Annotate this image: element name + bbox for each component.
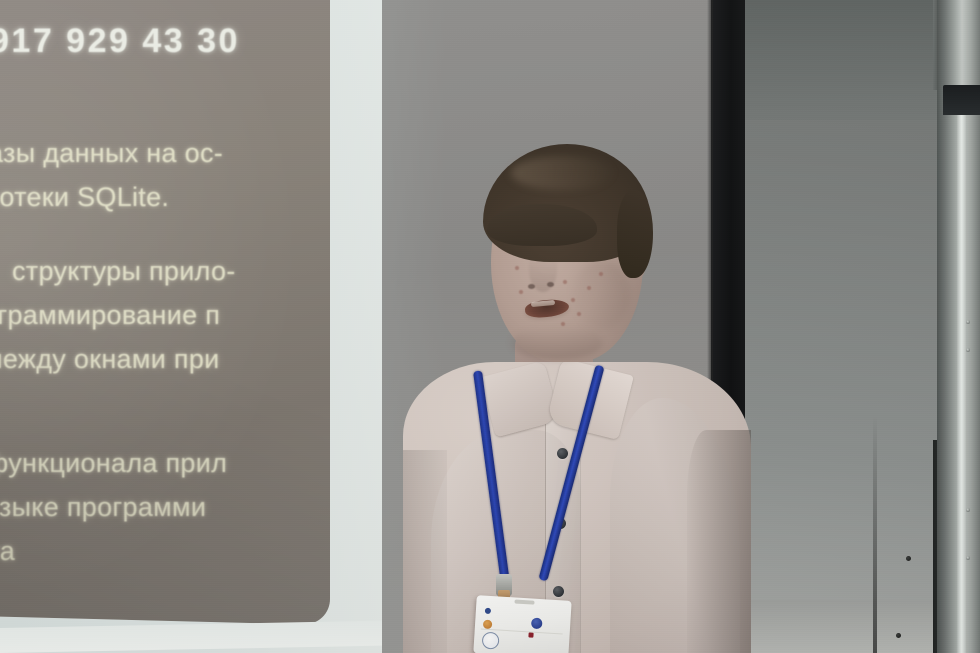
rail-screw-icon: [966, 320, 970, 324]
slide-body-line-1: азы данных на ос-: [0, 138, 223, 169]
lanyard-assembly: [395, 130, 755, 653]
slide-body-line-7: языке программи: [0, 492, 206, 523]
projector-screen: @koomelka 917 929 43 30 азы данных на ос…: [0, 0, 382, 653]
slide-content: @koomelka 917 929 43 30 азы данных на ос…: [0, 0, 330, 620]
slide-body-line-5: между окнами при: [0, 344, 220, 375]
badge-slot: [514, 599, 534, 604]
projected-slide: @koomelka 917 929 43 30 азы данных на ос…: [0, 0, 330, 625]
name-badge: [473, 595, 571, 653]
badge-logo-icon: [528, 632, 533, 637]
presentation-photo: @koomelka 917 929 43 30 азы данных на ос…: [0, 0, 980, 653]
badge-logo-icon: [485, 608, 491, 614]
slide-phone-text: 917 929 43 30: [0, 22, 240, 61]
rail-screw-icon: [966, 556, 970, 560]
wall-panel-bottom-shade: [745, 600, 937, 653]
wall-panel-seam: [873, 415, 877, 653]
badge-globe-icon: [482, 632, 500, 650]
presenter-figure: [395, 130, 755, 653]
lanyard-strap-right: [538, 365, 604, 582]
slide-body-line-6: функционала прил: [0, 448, 227, 479]
rail-top-cap: [943, 85, 980, 115]
panel-screw-icon: [906, 556, 911, 561]
wall-panel-top-shade: [745, 0, 937, 120]
rail-screw-icon: [966, 508, 970, 512]
rail-screw-icon: [966, 348, 970, 352]
slide-body-line-8: va: [0, 536, 15, 567]
panel-screw-icon: [896, 633, 901, 638]
slide-body-line-2: иотеки SQLite.: [0, 182, 169, 213]
badge-logo-icon: [531, 618, 543, 630]
slide-body-line-4: ограммирование п: [0, 300, 220, 331]
lanyard-strap-left: [473, 370, 510, 584]
slide-body-line-3: структуры прило-: [12, 256, 236, 287]
rail-highlight: [957, 110, 966, 653]
